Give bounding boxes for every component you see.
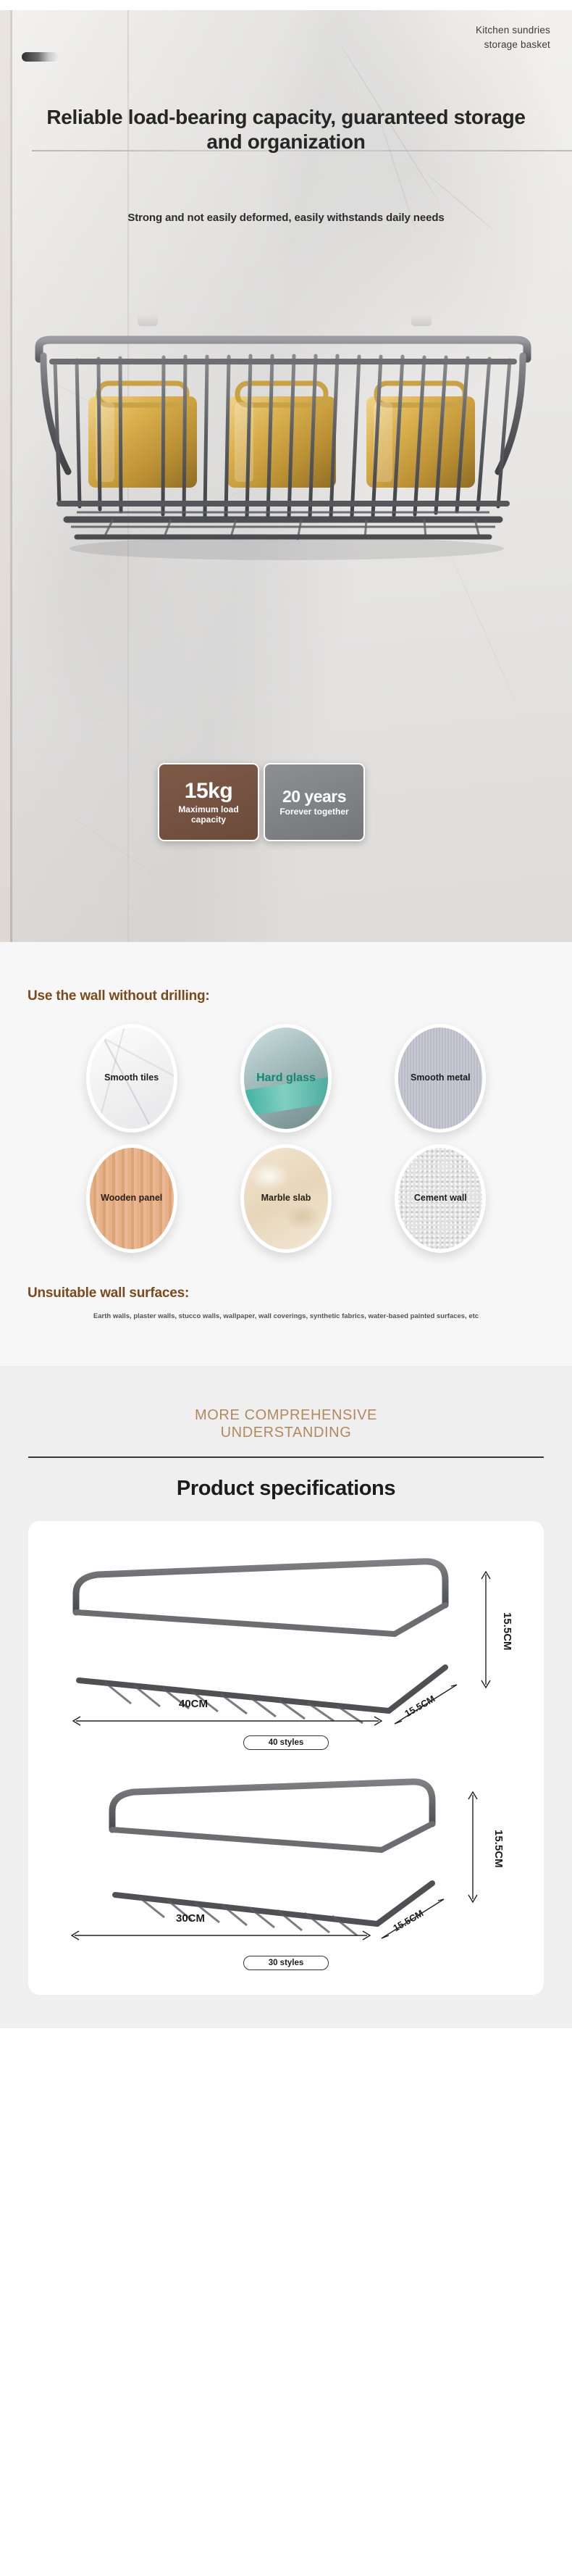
- surface-circle-grid: Smooth tiles Hard glass Smooth metal Woo…: [54, 1020, 518, 1256]
- height-dimension-label: 15.5CM: [501, 1612, 513, 1651]
- suitable-walls-heading: Use the wall without drilling:: [0, 988, 572, 1004]
- surface-smooth-tiles: Smooth tiles: [86, 1024, 177, 1133]
- divider-rule: [28, 1456, 544, 1458]
- hero-headline: Reliable load-bearing capacity, guarante…: [0, 105, 572, 154]
- wall-mount-hook: [138, 313, 158, 326]
- spec-diagram-30: 15.5CM 30CM 15.5CM: [54, 1763, 518, 1951]
- hero-section: Kitchen sundries storage basket Reliable…: [0, 0, 572, 942]
- width-dimension-label: 40CM: [179, 1698, 208, 1710]
- feature-badges: 15kg Maximum load capacity 20 years Fore…: [158, 763, 365, 841]
- surface-label: Smooth tiles: [100, 1072, 163, 1084]
- warranty-caption: Forever together: [274, 806, 354, 817]
- top-white-strip: [0, 0, 572, 10]
- surface-smooth-metal: Smooth metal: [395, 1024, 486, 1133]
- wall-mount-hook: [411, 313, 432, 326]
- height-dimension-label: 15.5CM: [492, 1830, 505, 1868]
- unsuitable-walls-text: Earth walls, plaster walls, stucco walls…: [54, 1312, 518, 1322]
- surface-label: Cement wall: [410, 1193, 471, 1204]
- surface-wooden-panel: Wooden panel: [86, 1144, 177, 1253]
- surface-marble-slab: Marble slab: [240, 1144, 332, 1253]
- wall-compatibility-section: Use the wall without drilling: Smooth ti…: [0, 942, 572, 1366]
- cabinet-handle: [22, 52, 58, 62]
- spec-item-30: 15.5CM 30CM 15.5CM 30 styles: [28, 1763, 544, 1970]
- eyebrow-line-2: storage basket: [333, 38, 550, 52]
- surface-cell: Hard glass: [209, 1020, 363, 1136]
- eyebrow-line-1: Kitchen sundries: [333, 23, 550, 38]
- surface-cell: Wooden panel: [54, 1141, 209, 1256]
- style-pill-40: 40 styles: [243, 1735, 329, 1750]
- max-load-badge: 15kg Maximum load capacity: [158, 763, 259, 841]
- kicker-line-2: UNDERSTANDING: [87, 1424, 485, 1441]
- section-kicker: MORE COMPREHENSIVE UNDERSTANDING: [0, 1406, 572, 1442]
- style-pill-30: 30 styles: [243, 1956, 329, 1970]
- hero-product-photo: [26, 330, 540, 569]
- spec-item-40: 15.5CM 40CM 15.5CM 40 styles: [28, 1543, 544, 1750]
- surface-cell: Cement wall: [363, 1141, 518, 1256]
- surface-label: Marble slab: [257, 1193, 316, 1204]
- specifications-section: MORE COMPREHENSIVE UNDERSTANDING Product…: [0, 1366, 572, 2028]
- surface-cell: Marble slab: [209, 1141, 363, 1256]
- warranty-badge: 20 years Forever together: [264, 763, 365, 841]
- product-name-eyebrow: Kitchen sundries storage basket: [333, 23, 550, 51]
- warranty-value: 20 years: [282, 788, 346, 805]
- specifications-title: Product specifications: [0, 1477, 572, 1501]
- unsuitable-walls-heading: Unsuitable wall surfaces:: [0, 1285, 572, 1301]
- max-load-value: 15kg: [185, 780, 232, 803]
- surface-label: Hard glass: [252, 1071, 320, 1085]
- max-load-caption: Maximum load capacity: [159, 804, 258, 825]
- surface-label: Wooden panel: [96, 1193, 167, 1204]
- kicker-line-1: MORE COMPREHENSIVE: [87, 1406, 485, 1424]
- width-dimension-label: 30CM: [176, 1912, 205, 1925]
- surface-cell: Smooth tiles: [54, 1020, 209, 1136]
- surface-hard-glass: Hard glass: [240, 1024, 332, 1133]
- surface-cell: Smooth metal: [363, 1020, 518, 1136]
- surface-cement-wall: Cement wall: [395, 1144, 486, 1253]
- specifications-card: 15.5CM 40CM 15.5CM 40 styles: [28, 1521, 544, 1995]
- spec-diagram-40: 15.5CM 40CM 15.5CM: [54, 1543, 518, 1731]
- hero-subheadline: Strong and not easily deformed, easily w…: [0, 212, 572, 224]
- surface-label: Smooth metal: [406, 1072, 475, 1084]
